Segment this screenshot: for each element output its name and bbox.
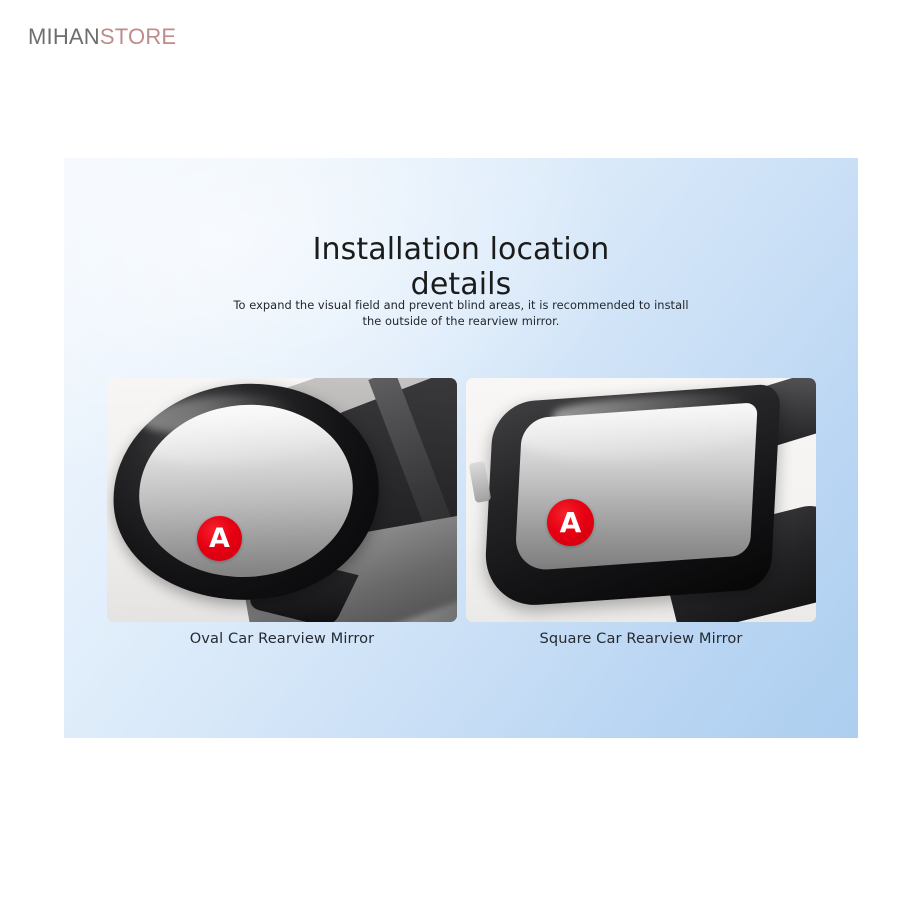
installation-info-panel: Installation location details To expand … <box>64 158 858 738</box>
figure-caption-row: Oval Car Rearview Mirror Square Car Rear… <box>107 630 816 647</box>
page-title: Installation location details <box>64 232 858 302</box>
brand-logo: MIHANSTORE <box>28 26 176 48</box>
square-mirror-illustration: A <box>466 378 816 622</box>
page-subtitle-line-2: the outside of the rearview mirror. <box>124 314 798 330</box>
install-position-marker-a-square: A <box>547 499 594 546</box>
figure-image-square-mirror: A <box>466 378 816 622</box>
oval-mirror-glass <box>132 396 360 586</box>
install-position-marker-a-oval: A <box>197 516 242 561</box>
figure-row: A A <box>107 378 816 622</box>
brand-logo-primary: MIHAN <box>28 24 100 49</box>
square-mirror-glass <box>514 402 757 571</box>
page-title-line-2: details <box>64 267 858 302</box>
page-title-line-1: Installation location <box>313 232 610 267</box>
figure-caption-oval: Oval Car Rearview Mirror <box>107 630 457 647</box>
oval-mirror-illustration: A <box>107 378 457 622</box>
page-subtitle-line-1: To expand the visual field and prevent b… <box>233 298 688 312</box>
figure-caption-square: Square Car Rearview Mirror <box>466 630 816 647</box>
brand-logo-secondary: STORE <box>100 24 176 49</box>
page-subtitle: To expand the visual field and prevent b… <box>64 298 858 329</box>
figure-image-oval-mirror: A <box>107 378 457 622</box>
